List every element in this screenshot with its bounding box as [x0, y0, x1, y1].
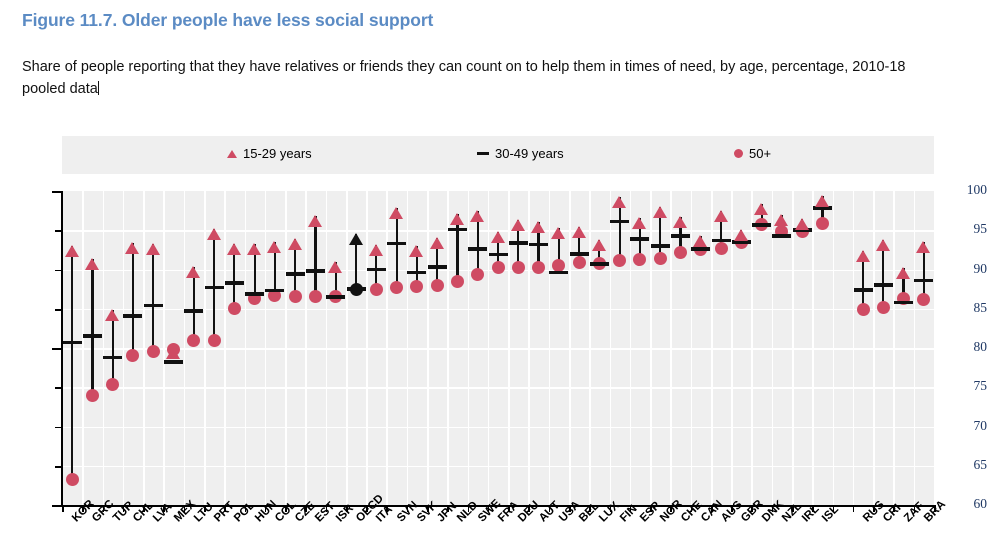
- data-point-50plus[interactable]: [126, 349, 139, 362]
- data-point-50plus[interactable]: [492, 261, 505, 274]
- data-point-15-29[interactable]: [572, 226, 586, 238]
- gridline-horizontal: [62, 427, 934, 429]
- gridline-vertical: [589, 191, 591, 505]
- data-point-30-49[interactable]: [570, 252, 589, 256]
- dash-icon: [477, 152, 489, 155]
- data-point-15-29[interactable]: [754, 203, 768, 215]
- data-point-15-29[interactable]: [491, 231, 505, 243]
- data-point-50plus[interactable]: [512, 261, 525, 274]
- data-point-30-49[interactable]: [407, 271, 426, 275]
- y-axis-label: 75: [941, 378, 987, 394]
- gridline-vertical: [285, 191, 287, 505]
- data-point-15-29[interactable]: [592, 239, 606, 251]
- data-point-50plus[interactable]: [431, 279, 444, 292]
- data-point-50plus[interactable]: [187, 334, 200, 347]
- data-point-30-49[interactable]: [752, 223, 771, 227]
- data-point-30-49[interactable]: [164, 360, 183, 364]
- data-point-30-49[interactable]: [894, 301, 913, 305]
- legend-label-50plus: 50+: [749, 146, 771, 161]
- data-point-30-49[interactable]: [691, 247, 710, 251]
- data-point-15-29[interactable]: [511, 219, 525, 231]
- data-point-15-29[interactable]: [247, 243, 261, 255]
- data-point-15-29[interactable]: [916, 241, 930, 253]
- gridline-vertical: [245, 191, 247, 505]
- legend-item-30-49[interactable]: 30-49 years: [477, 145, 564, 161]
- data-point-30-49[interactable]: [83, 334, 102, 338]
- y-axis-label: 100: [941, 182, 987, 198]
- y-axis-tick: [55, 466, 62, 468]
- legend-item-50plus[interactable]: 50+: [734, 145, 771, 161]
- data-point-30-49[interactable]: [854, 288, 873, 292]
- data-point-30-49[interactable]: [549, 271, 568, 275]
- gridline-vertical: [792, 191, 794, 505]
- gridline-vertical: [204, 191, 206, 505]
- data-point-15-29[interactable]: [308, 215, 322, 227]
- y-axis-tick: [55, 387, 62, 389]
- y-axis-label: 90: [941, 261, 987, 277]
- gridline-vertical: [427, 191, 429, 505]
- data-point-15-29[interactable]: [65, 245, 79, 257]
- data-point-15-29[interactable]: [85, 258, 99, 270]
- circle-icon: [734, 149, 743, 158]
- data-point-15-29[interactable]: [409, 245, 423, 257]
- y-axis-tick: [52, 505, 62, 507]
- legend-label-30-49: 30-49 years: [495, 146, 564, 161]
- gridline-vertical: [833, 191, 835, 505]
- y-axis-label: 60: [941, 496, 987, 512]
- data-point-15-29[interactable]: [186, 266, 200, 278]
- gridline-vertical: [853, 191, 855, 505]
- y-axis-tick: [55, 270, 62, 272]
- data-point-30-49[interactable]: [326, 295, 345, 299]
- legend-label-15-29: 15-29 years: [243, 146, 312, 161]
- data-point-15-29[interactable]: [430, 237, 444, 249]
- data-point-15-29[interactable]: [125, 242, 139, 254]
- data-point-30-49[interactable]: [468, 247, 487, 251]
- data-point-50plus[interactable]: [715, 242, 728, 255]
- data-point-30-49[interactable]: [144, 304, 163, 308]
- data-point-50plus[interactable]: [573, 256, 586, 269]
- data-point-30-49[interactable]: [123, 314, 142, 318]
- data-point-15-29[interactable]: [632, 217, 646, 229]
- range-stem: [71, 246, 73, 479]
- data-point-30-49[interactable]: [772, 234, 791, 238]
- data-point-30-49[interactable]: [387, 242, 406, 246]
- gridline-vertical: [549, 191, 551, 505]
- gridline-vertical: [468, 191, 470, 505]
- gridline-vertical: [123, 191, 125, 505]
- gridline-vertical: [386, 191, 388, 505]
- gridline-vertical: [731, 191, 733, 505]
- y-axis-tick: [52, 348, 62, 350]
- range-stem: [152, 244, 154, 352]
- data-point-50plus[interactable]: [857, 303, 870, 316]
- y-axis-label: 70: [941, 418, 987, 434]
- data-point-15-29[interactable]: [815, 195, 829, 207]
- gridline-vertical: [650, 191, 652, 505]
- x-axis-tick: [62, 505, 64, 512]
- data-point-30-49[interactable]: [63, 341, 82, 345]
- range-stem: [396, 208, 398, 287]
- data-point-30-49[interactable]: [529, 243, 548, 247]
- range-stem: [213, 229, 215, 340]
- gridline-vertical: [82, 191, 84, 505]
- data-point-15-29[interactable]: [856, 250, 870, 262]
- gridline-vertical: [610, 191, 612, 505]
- figure-title: Figure 11.7. Older people have less soci…: [22, 10, 433, 31]
- data-point-15-29[interactable]: [795, 218, 809, 230]
- gridline-vertical: [407, 191, 409, 505]
- range-stem: [314, 216, 316, 297]
- data-point-30-49[interactable]: [184, 309, 203, 313]
- gridline-vertical: [184, 191, 186, 505]
- y-axis-label: 85: [941, 300, 987, 316]
- gridline-vertical: [305, 191, 307, 505]
- data-point-15-29[interactable]: [876, 239, 890, 251]
- gridline-vertical: [346, 191, 348, 505]
- data-point-15-29[interactable]: [470, 210, 484, 222]
- gridline-vertical: [366, 191, 368, 505]
- data-point-15-29[interactable]: [693, 235, 707, 247]
- figure-subtitle: Share of people reporting that they have…: [22, 56, 952, 100]
- data-point-15-29[interactable]: [714, 210, 728, 222]
- gridline-vertical: [143, 191, 145, 505]
- data-point-15-29[interactable]: [369, 244, 383, 256]
- gridline-vertical: [914, 191, 916, 505]
- y-axis-tick: [55, 427, 62, 429]
- data-point-15-29[interactable]: [653, 206, 667, 218]
- y-axis-tick: [52, 191, 62, 193]
- data-point-30-49[interactable]: [610, 220, 629, 224]
- data-point-15-29[interactable]: [389, 207, 403, 219]
- data-point-50plus[interactable]: [674, 246, 687, 259]
- data-point-15-29[interactable]: [612, 196, 626, 208]
- gridline-vertical: [772, 191, 774, 505]
- data-point-30-49[interactable]: [286, 272, 305, 276]
- data-point-30-49[interactable]: [265, 289, 284, 293]
- data-point-30-49[interactable]: [367, 268, 386, 272]
- data-point-15-29[interactable]: [288, 238, 302, 250]
- data-point-30-49[interactable]: [630, 237, 649, 241]
- gridline-horizontal: [62, 466, 934, 468]
- data-point-15-29[interactable]: [450, 213, 464, 225]
- data-point-15-29[interactable]: [207, 228, 221, 240]
- data-point-30-49[interactable]: [306, 269, 325, 273]
- y-axis-label: 80: [941, 339, 987, 355]
- gridline-vertical: [447, 191, 449, 505]
- data-point-30-49[interactable]: [245, 292, 264, 296]
- range-stem: [91, 259, 93, 396]
- legend-item-15-29[interactable]: 15-29 years: [227, 145, 312, 161]
- triangle-up-icon: [227, 150, 237, 158]
- data-point-30-49[interactable]: [874, 283, 893, 287]
- data-point-30-49[interactable]: [347, 287, 366, 291]
- data-point-30-49[interactable]: [448, 228, 467, 232]
- y-axis-label: 65: [941, 457, 987, 473]
- data-point-50plus[interactable]: [451, 275, 464, 288]
- figure-subtitle-line1: Share of people reporting that they have…: [22, 59, 768, 75]
- data-point-15-29[interactable]: [267, 241, 281, 253]
- gridline-vertical: [751, 191, 753, 505]
- data-point-15-29[interactable]: [896, 267, 910, 279]
- data-point-15-29[interactable]: [166, 347, 180, 359]
- range-stem: [112, 310, 114, 385]
- data-point-15-29[interactable]: [146, 243, 160, 255]
- gridline-vertical: [224, 191, 226, 505]
- gridline-vertical: [528, 191, 530, 505]
- x-axis-tick: [853, 505, 855, 512]
- data-point-30-49[interactable]: [712, 239, 731, 243]
- data-point-30-49[interactable]: [225, 281, 244, 285]
- data-point-15-29[interactable]: [349, 233, 363, 245]
- data-point-15-29[interactable]: [734, 229, 748, 241]
- y-axis-tick: [55, 230, 62, 232]
- gridline-vertical: [163, 191, 165, 505]
- data-point-50plus[interactable]: [370, 283, 383, 296]
- data-point-50plus[interactable]: [86, 389, 99, 402]
- data-point-30-49[interactable]: [671, 234, 690, 238]
- gridline-vertical: [103, 191, 105, 505]
- gridline-vertical: [508, 191, 510, 505]
- text-caret: [98, 81, 99, 95]
- data-point-30-49[interactable]: [914, 279, 933, 283]
- gridline-vertical: [873, 191, 875, 505]
- data-point-30-49[interactable]: [489, 253, 508, 257]
- gridline-vertical: [670, 191, 672, 505]
- range-stem: [132, 243, 134, 355]
- data-point-30-49[interactable]: [590, 262, 609, 266]
- data-point-15-29[interactable]: [328, 261, 342, 273]
- gridline-vertical: [569, 191, 571, 505]
- data-point-30-49[interactable]: [205, 286, 224, 290]
- gridline-vertical: [265, 191, 267, 505]
- data-point-15-29[interactable]: [531, 221, 545, 233]
- data-point-15-29[interactable]: [551, 227, 565, 239]
- data-point-50plus[interactable]: [654, 252, 667, 265]
- data-point-50plus[interactable]: [66, 473, 79, 486]
- gridline-horizontal: [62, 387, 934, 389]
- data-point-50plus[interactable]: [208, 334, 221, 347]
- data-point-30-49[interactable]: [428, 265, 447, 269]
- gridline-vertical: [893, 191, 895, 505]
- gridline-vertical: [326, 191, 328, 505]
- gridline-horizontal: [62, 348, 934, 350]
- gridline-vertical: [488, 191, 490, 505]
- data-point-30-49[interactable]: [103, 356, 122, 360]
- chart-legend: 15-29 years 30-49 years 50+: [62, 136, 934, 174]
- data-point-15-29[interactable]: [774, 214, 788, 226]
- gridline-vertical: [812, 191, 814, 505]
- data-point-30-49[interactable]: [509, 241, 528, 245]
- data-point-30-49[interactable]: [651, 244, 670, 248]
- y-axis-label: 95: [941, 221, 987, 237]
- gridline-vertical: [691, 191, 693, 505]
- data-point-15-29[interactable]: [227, 243, 241, 255]
- data-point-15-29[interactable]: [673, 216, 687, 228]
- data-point-15-29[interactable]: [105, 309, 119, 321]
- y-axis-tick: [55, 309, 62, 311]
